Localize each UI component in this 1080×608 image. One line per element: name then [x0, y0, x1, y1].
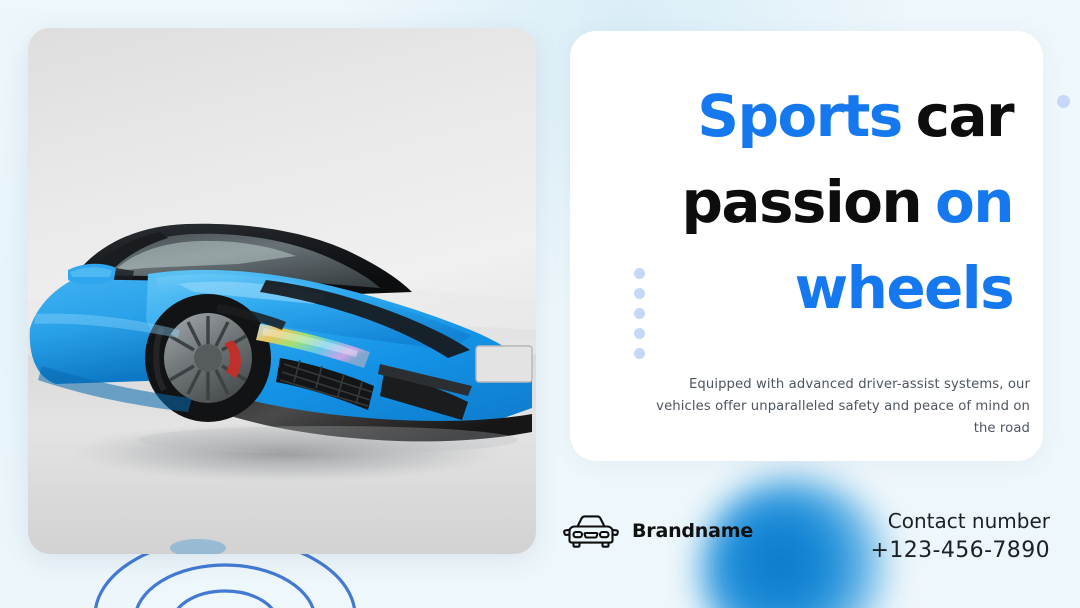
headline-word-sports: Sports	[697, 82, 901, 150]
poster-canvas: Sportscar passionon wheels Equipped with…	[0, 0, 1080, 608]
contact-number[interactable]: +123-456-7890	[871, 536, 1050, 566]
headline-word-on: on	[935, 168, 1013, 236]
headline-word-wheels: wheels	[795, 254, 1013, 322]
edge-dot-decoration	[1057, 95, 1070, 108]
description-paragraph: Equipped with advanced driver-assist sys…	[640, 374, 1030, 440]
headline-word-passion: passion	[682, 168, 922, 236]
headline-line-1: Sportscar	[596, 73, 1013, 159]
page-title: Sportscar passionon wheels	[596, 73, 1013, 331]
car-photo	[28, 28, 536, 554]
brand-name-label: Brandname	[632, 520, 753, 542]
contact-label: Contact number	[871, 506, 1050, 536]
dot-4	[634, 328, 645, 339]
dot-3	[634, 308, 645, 319]
dot-2	[634, 288, 645, 299]
car-photo-card	[28, 28, 536, 554]
car-front-icon	[562, 512, 620, 550]
dot-1	[634, 268, 645, 279]
headline-line-3: wheels	[596, 245, 1013, 331]
headline-word-car: car	[916, 82, 1013, 150]
headline-line-2: passionon	[596, 159, 1013, 245]
dot-5	[634, 348, 645, 359]
contact-block: Contact number +123-456-7890	[871, 506, 1050, 566]
dot-list-decoration	[634, 268, 645, 359]
brand-logo[interactable]: Brandname	[562, 512, 753, 550]
